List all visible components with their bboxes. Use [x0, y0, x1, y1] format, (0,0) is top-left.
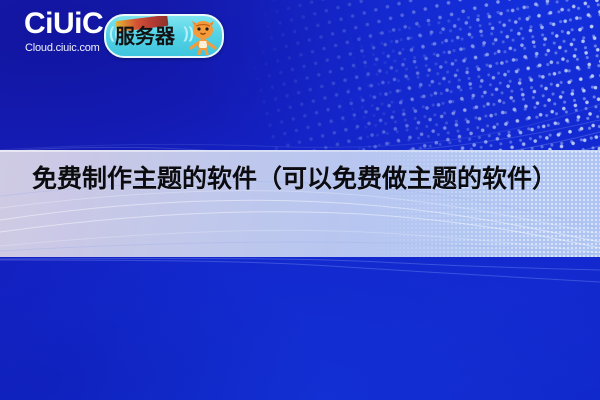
server-badge-label: 服务器	[115, 24, 175, 50]
brand-logo[interactable]: CiUiC Cloud.ciuic.com	[24, 8, 114, 55]
logo-wordmark: CiUiC	[24, 8, 114, 40]
banner-canvas: CiUiC Cloud.ciuic.com (( 服务器 ))	[0, 0, 600, 400]
cat-mascot-icon	[186, 17, 220, 55]
server-badge[interactable]: (( 服务器 ))	[104, 14, 224, 58]
page-title: 免费制作主题的软件（可以免费做主题的软件）	[32, 160, 584, 198]
logo-domain: Cloud.ciuic.com	[25, 42, 114, 55]
